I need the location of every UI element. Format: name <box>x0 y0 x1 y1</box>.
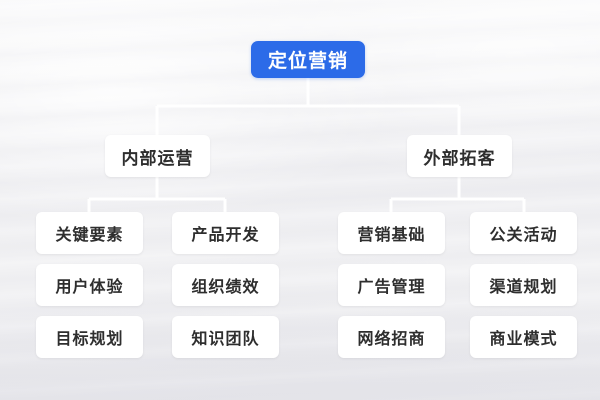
node-leaf[interactable]: 产品开发 <box>172 212 279 254</box>
node-leaf[interactable]: 营销基础 <box>338 212 445 254</box>
node-leaf[interactable]: 渠道规划 <box>470 264 577 306</box>
node-branch-internal-operations[interactable]: 内部运营 <box>105 135 210 177</box>
node-leaf[interactable]: 用户体验 <box>36 264 143 306</box>
node-leaf[interactable]: 网络招商 <box>338 316 445 358</box>
node-leaf[interactable]: 知识团队 <box>172 316 279 358</box>
node-leaf[interactable]: 广告管理 <box>338 264 445 306</box>
node-root[interactable]: 定位营销 <box>251 41 365 78</box>
node-leaf[interactable]: 商业模式 <box>470 316 577 358</box>
node-leaf[interactable]: 目标规划 <box>36 316 143 358</box>
node-leaf[interactable]: 公关活动 <box>470 212 577 254</box>
node-branch-external-acquisition[interactable]: 外部拓客 <box>407 135 512 177</box>
node-leaf[interactable]: 组织绩效 <box>172 264 279 306</box>
node-leaf[interactable]: 关键要素 <box>36 212 143 254</box>
diagram-canvas: 定位营销 内部运营 外部拓客 关键要素 用户体验 目标规划 产品开发 组织绩效 … <box>0 0 600 400</box>
